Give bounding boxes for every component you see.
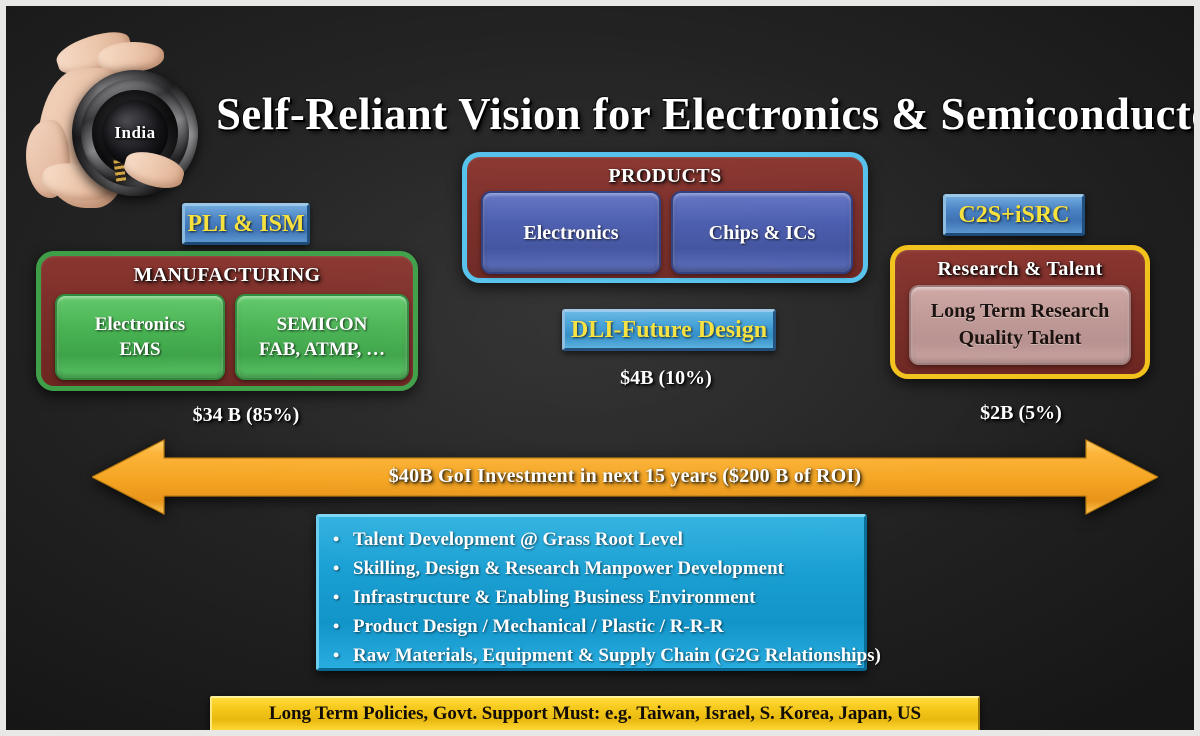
research-box-line1: Long Term Research (931, 298, 1110, 325)
products-box-electronics[interactable]: Electronics (481, 191, 661, 274)
manufacturing-box2-line1: SEMICON (277, 312, 368, 337)
list-item: • Skilling, Design & Research Manpower D… (333, 554, 854, 583)
panel-manufacturing: MANUFACTURING Electronics EMS SEMICON FA… (36, 251, 418, 391)
research-box-long-term[interactable]: Long Term Research Quality Talent (909, 285, 1131, 365)
manufacturing-box2-line2: FAB, ATMP, … (259, 337, 385, 362)
products-box1-label: Electronics (523, 220, 618, 246)
bullet-dot-icon: • (333, 583, 353, 611)
bullet-text: Product Design / Mechanical / Plastic / … (353, 613, 724, 641)
lens-label-india: India (114, 123, 155, 143)
panel-products-title: PRODUCTS (467, 165, 863, 188)
products-box2-label: Chips & ICs (709, 220, 816, 246)
bullet-dot-icon: • (333, 525, 353, 553)
manufacturing-box1-line2: EMS (119, 337, 160, 362)
hand-holding-lens-image: India (20, 28, 220, 228)
bullet-text: Infrastructure & Enabling Business Envir… (353, 584, 756, 612)
research-box-line2: Quality Talent (959, 325, 1082, 352)
footer-banner: Long Term Policies, Govt. Support Must: … (210, 696, 980, 730)
manufacturing-box1-line1: Electronics (95, 312, 185, 337)
badge-c2s-isrc[interactable]: C2S+iSRC (943, 194, 1085, 236)
bullet-list-panel: • Talent Development @ Grass Root Level … (316, 514, 867, 671)
investment-arrow-banner: $40B GoI Investment in next 15 years ($2… (92, 438, 1158, 516)
badge-dli-future-design[interactable]: DLI-Future Design (562, 309, 776, 351)
panel-research-talent: Research & Talent Long Term Research Qua… (890, 245, 1150, 379)
panel-products: PRODUCTS Electronics Chips & ICs (462, 152, 868, 283)
list-item: • Product Design / Mechanical / Plastic … (333, 612, 854, 641)
manufacturing-box-semicon[interactable]: SEMICON FAB, ATMP, … (235, 294, 409, 380)
bullet-dot-icon: • (333, 641, 353, 669)
page-title: Self-Reliant Vision for Electronics & Se… (216, 84, 1128, 146)
panel-manufacturing-title: MANUFACTURING (41, 264, 413, 287)
list-item: • Talent Development @ Grass Root Level (333, 525, 854, 554)
arrow-label: $40B GoI Investment in next 15 years ($2… (92, 465, 1158, 488)
slide-canvas: India Self-Reliant Vision for Electronic… (6, 6, 1194, 730)
bullet-text: Talent Development @ Grass Root Level (353, 526, 683, 554)
badge-pli-ism[interactable]: PLI & ISM (182, 203, 310, 245)
products-box-chips-ics[interactable]: Chips & ICs (671, 191, 853, 274)
cost-label-manufacturing: $34 B (85%) (126, 404, 366, 427)
cost-label-products: $4B (10%) (566, 367, 766, 390)
bullet-dot-icon: • (333, 554, 353, 582)
cost-label-research: $2B (5%) (926, 402, 1116, 425)
manufacturing-box-electronics-ems[interactable]: Electronics EMS (55, 294, 225, 380)
list-item: • Infrastructure & Enabling Business Env… (333, 583, 854, 612)
list-item: • Raw Materials, Equipment & Supply Chai… (333, 641, 854, 670)
panel-research-title: Research & Talent (895, 258, 1145, 281)
bullet-text: Skilling, Design & Research Manpower Dev… (353, 555, 784, 583)
bullet-text: Raw Materials, Equipment & Supply Chain … (353, 642, 881, 670)
bullet-dot-icon: • (333, 612, 353, 640)
